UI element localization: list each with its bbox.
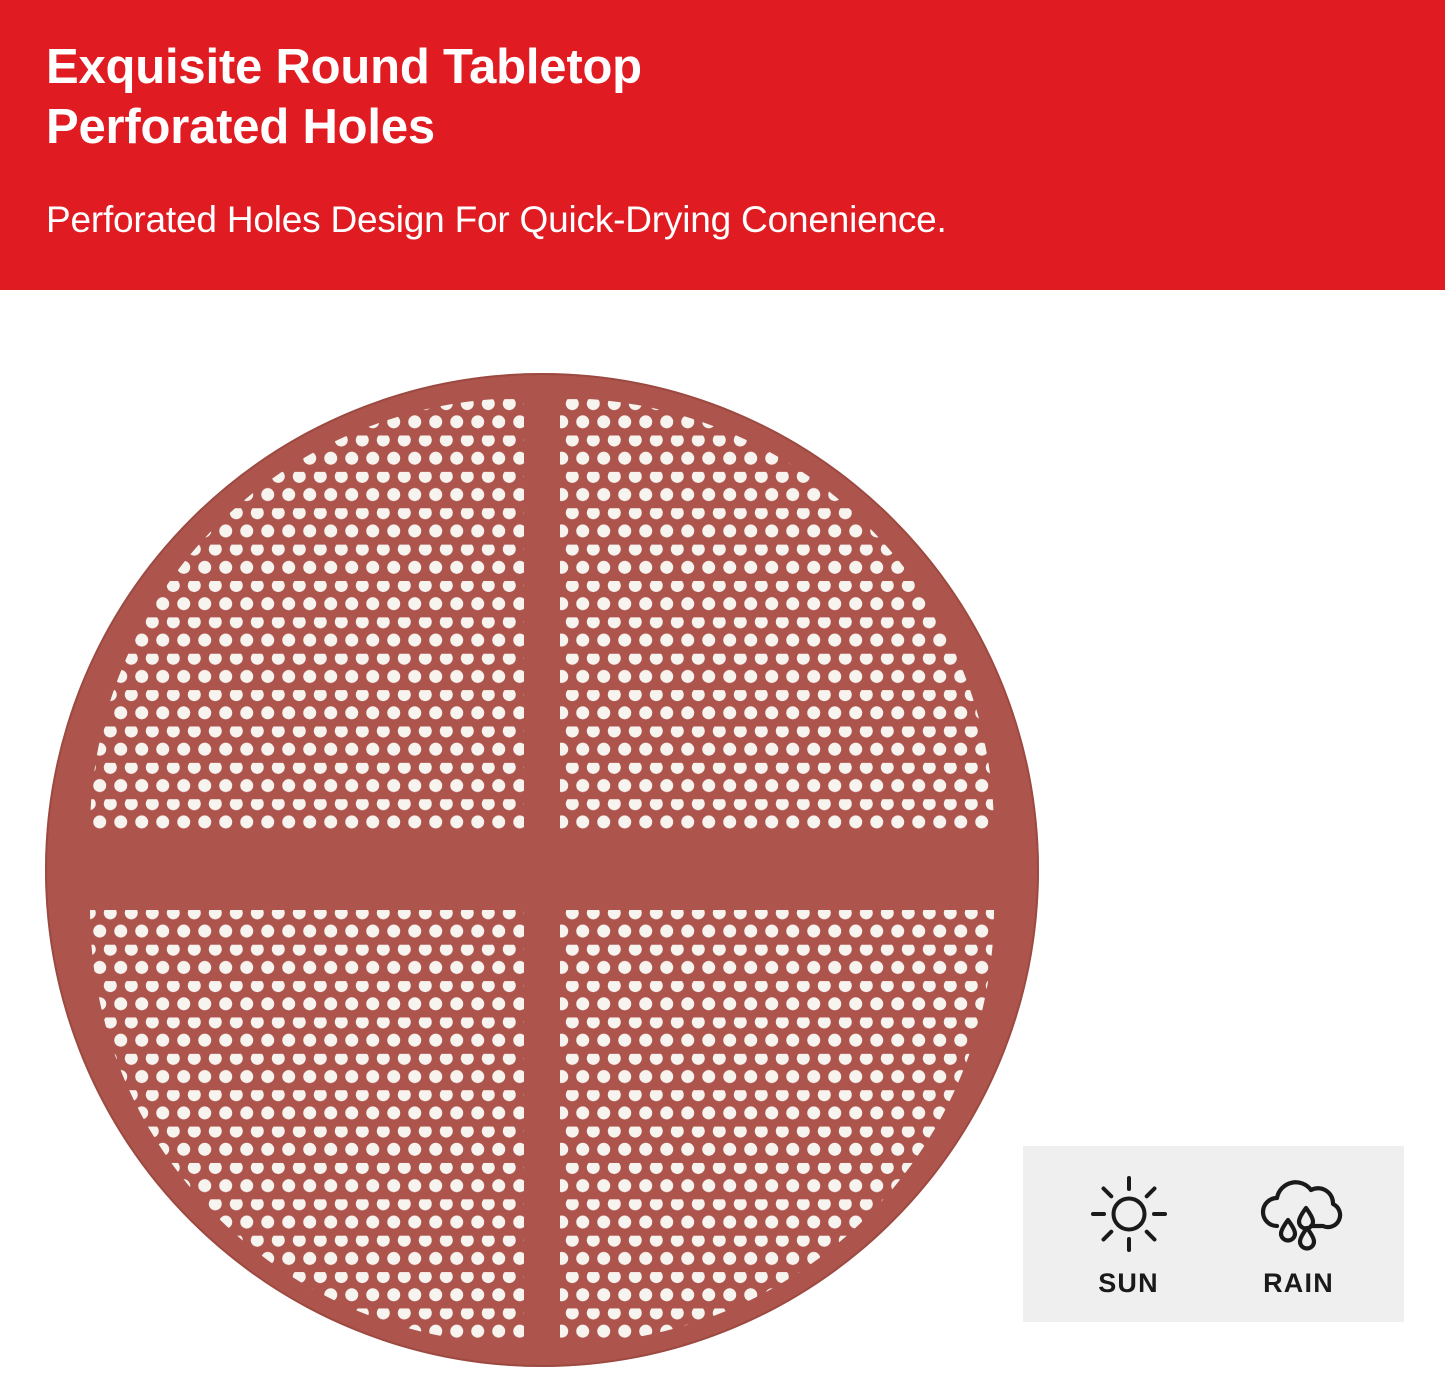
badge-label-sun: SUN <box>1098 1268 1159 1299</box>
weather-badge: SUN RAIN <box>1023 1146 1404 1322</box>
header-band: Exquisite Round Tabletop Perforated Hole… <box>0 0 1445 290</box>
tabletop-disc <box>45 373 1039 1367</box>
badge-label-rain: RAIN <box>1263 1268 1334 1299</box>
product-feature-image: Exquisite Round Tabletop Perforated Hole… <box>0 0 1445 1376</box>
rain-cloud-icon <box>1253 1170 1345 1258</box>
page-subtitle: Perforated Holes Design For Quick-Drying… <box>46 198 1376 242</box>
badge-item-sun: SUN <box>1044 1170 1214 1299</box>
sun-icon <box>1089 1170 1169 1258</box>
badge-item-rain: RAIN <box>1214 1170 1384 1299</box>
page-title: Exquisite Round Tabletop Perforated Hole… <box>46 38 1046 158</box>
